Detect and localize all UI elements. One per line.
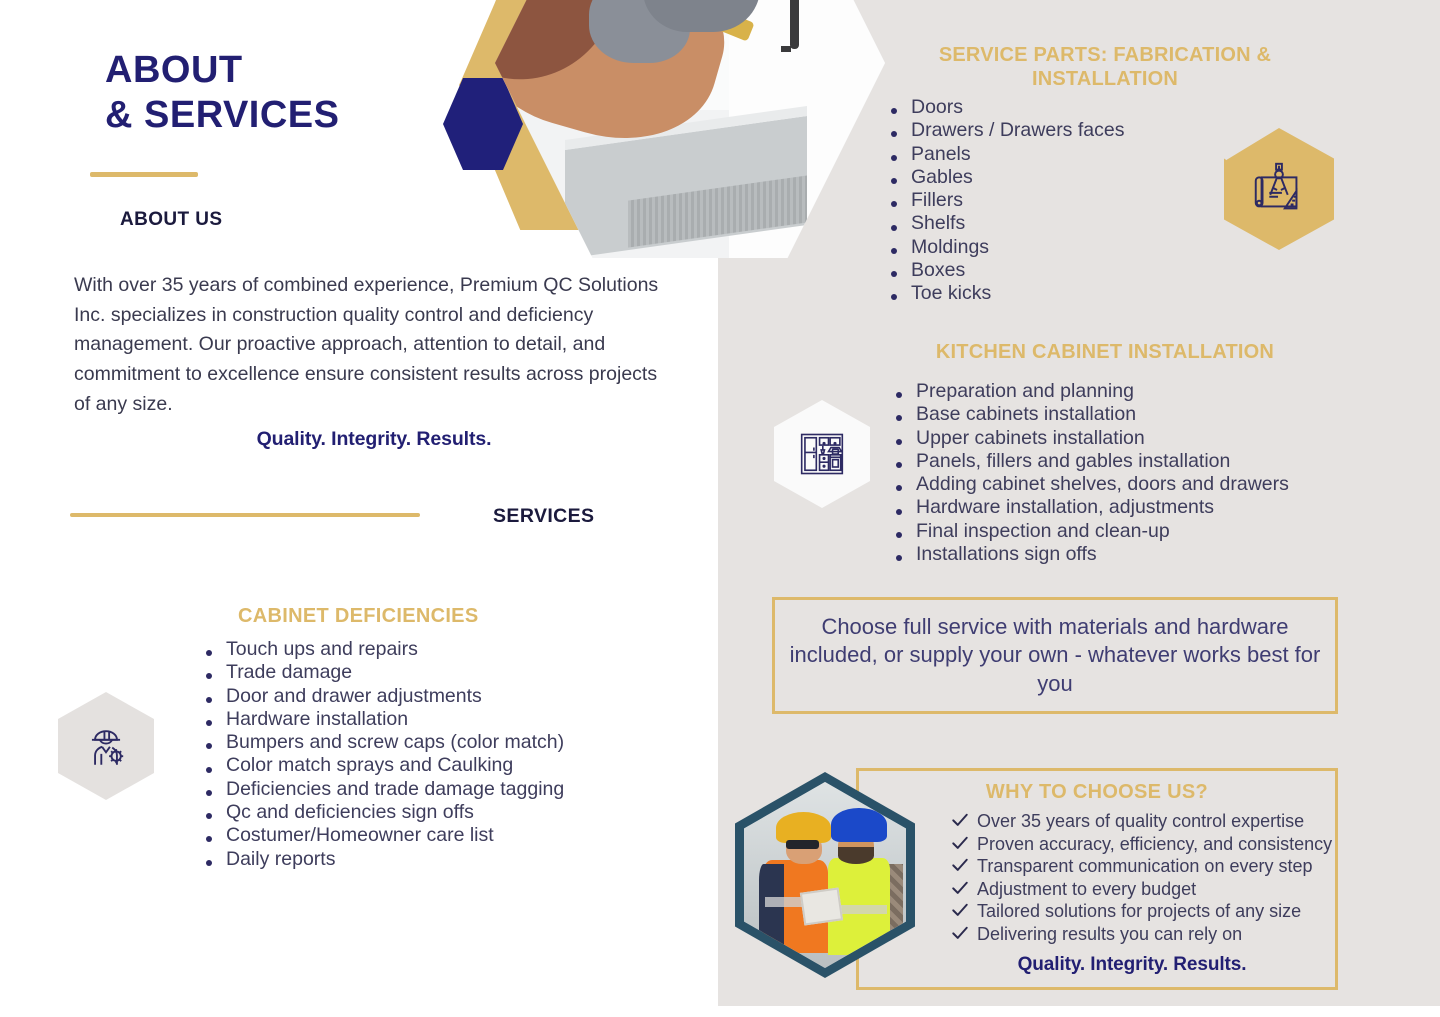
- check-icon: [951, 811, 969, 829]
- list-item-label: Delivering results you can rely on: [977, 924, 1242, 944]
- page-title-line2: & SERVICES: [105, 93, 339, 138]
- list-item: Adjustment to every budget: [951, 878, 1335, 901]
- list-item: Hardware installation, adjustments: [890, 496, 1289, 519]
- page-title: ABOUT & SERVICES: [105, 48, 339, 138]
- worker-gear-icon: [81, 721, 131, 771]
- why-choose-us-list: Over 35 years of quality control experti…: [951, 810, 1335, 945]
- check-icon: [951, 879, 969, 897]
- list-item: Installations sign offs: [890, 543, 1289, 566]
- list-item: Toe kicks: [885, 282, 1124, 305]
- list-item: Gables: [885, 166, 1124, 189]
- list-item-label: Proven accuracy, efficiency, and consist…: [977, 834, 1332, 854]
- list-item: Touch ups and repairs: [200, 638, 564, 661]
- list-item: Moldings: [885, 236, 1124, 259]
- why-choose-tagline: Quality. Integrity. Results.: [929, 954, 1335, 976]
- list-item: Base cabinets installation: [890, 403, 1289, 426]
- list-item-label: Over 35 years of quality control experti…: [977, 811, 1304, 831]
- page-title-line1: ABOUT: [105, 48, 339, 93]
- kitchen-installation-heading: KITCHEN CABINET INSTALLATION: [880, 341, 1330, 364]
- worker1-hard-hat: [776, 812, 831, 844]
- list-item: Tailored solutions for projects of any s…: [951, 900, 1335, 923]
- list-item: Trade damage: [200, 661, 564, 684]
- list-item: Shelfs: [885, 212, 1124, 235]
- list-item: Adding cabinet shelves, doors and drawer…: [890, 473, 1289, 496]
- worker-tablet: [800, 887, 843, 926]
- services-heading: SERVICES: [493, 505, 594, 528]
- list-item: Deficiencies and trade damage tagging: [200, 778, 564, 801]
- list-item: Upper cabinets installation: [890, 427, 1289, 450]
- check-icon: [951, 856, 969, 874]
- list-item: Doors: [885, 96, 1124, 119]
- why-choose-us-heading: WHY TO CHOOSE US?: [859, 781, 1335, 804]
- worker1-sunglasses: [786, 840, 818, 849]
- about-us-body: With over 35 years of combined experienc…: [74, 271, 674, 455]
- list-item: Fillers: [885, 189, 1124, 212]
- list-item-label: Adjustment to every budget: [977, 879, 1196, 899]
- check-icon: [951, 834, 969, 852]
- choose-service-text: Choose full service with materials and h…: [775, 613, 1335, 697]
- services-divider: [70, 513, 420, 517]
- about-tagline: Quality. Integrity. Results.: [74, 425, 674, 455]
- about-us-heading: ABOUT US: [120, 209, 222, 231]
- list-item: Delivering results you can rely on: [951, 923, 1335, 946]
- why-choose-us-box: WHY TO CHOOSE US? Over 35 years of quali…: [856, 768, 1338, 990]
- blueprint-compass-icon: [1248, 158, 1310, 220]
- worker2-beard: [838, 847, 874, 864]
- list-item: Hardware installation: [200, 708, 564, 731]
- list-item: Costumer/Homeowner care list: [200, 824, 564, 847]
- service-parts-heading: SERVICE PARTS: FABRICATION & INSTALLATIO…: [880, 44, 1330, 91]
- about-us-paragraph: With over 35 years of combined experienc…: [74, 274, 658, 415]
- list-item: Door and drawer adjustments: [200, 685, 564, 708]
- list-item: Panels: [885, 143, 1124, 166]
- worker-gear-icon-badge: [58, 692, 154, 800]
- list-item: Final inspection and clean-up: [890, 520, 1289, 543]
- kitchen-cabinet-icon: [796, 428, 848, 480]
- list-item: Proven accuracy, efficiency, and consist…: [951, 833, 1335, 856]
- service-parts-list: Doors Drawers / Drawers faces Panels Gab…: [885, 96, 1124, 306]
- worker2-hard-hat: [831, 808, 886, 841]
- list-item: Over 35 years of quality control experti…: [951, 810, 1335, 833]
- kitchen-installation-list: Preparation and planning Base cabinets i…: [890, 380, 1289, 566]
- title-divider: [90, 172, 198, 177]
- list-item-label: Transparent communication on every step: [977, 856, 1313, 876]
- cabinet-handle: [790, 0, 799, 49]
- list-item: Qc and deficiencies sign offs: [200, 801, 564, 824]
- list-item: Boxes: [885, 259, 1124, 282]
- check-icon: [951, 901, 969, 919]
- list-item: Color match sprays and Caulking: [200, 754, 564, 777]
- list-item: Panels, fillers and gables installation: [890, 450, 1289, 473]
- list-item: Bumpers and screw caps (color match): [200, 731, 564, 754]
- list-item: Daily reports: [200, 848, 564, 871]
- list-item: Drawers / Drawers faces: [885, 119, 1124, 142]
- choose-service-callout: Choose full service with materials and h…: [772, 597, 1338, 714]
- cabinet-deficiencies-list: Touch ups and repairs Trade damage Door …: [200, 638, 564, 871]
- list-item: Preparation and planning: [890, 380, 1289, 403]
- check-icon: [951, 924, 969, 942]
- cabinet-deficiencies-heading: CABINET DEFICIENCIES: [238, 605, 478, 628]
- list-item-label: Tailored solutions for projects of any s…: [977, 901, 1301, 921]
- list-item: Transparent communication on every step: [951, 855, 1335, 878]
